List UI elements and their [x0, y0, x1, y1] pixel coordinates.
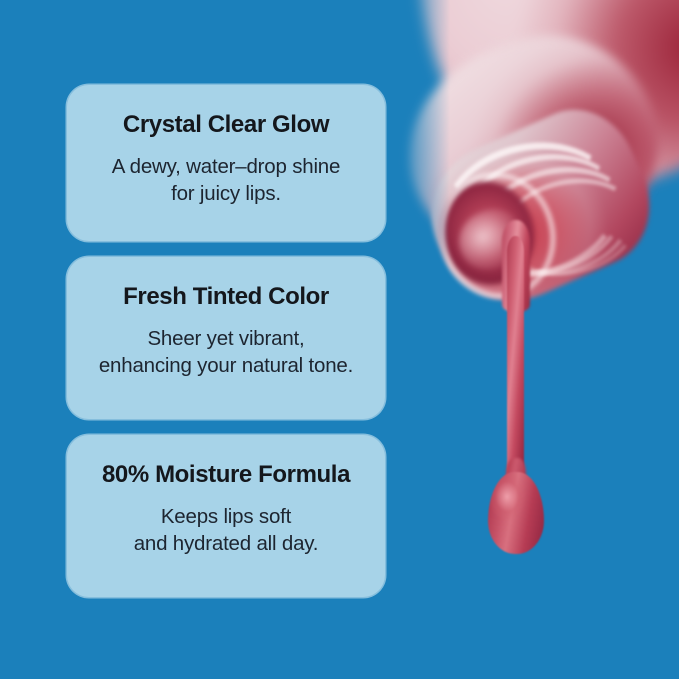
feature-card-description-line: and hydrated all day. — [134, 532, 319, 555]
product-feature-infographic: Crystal Clear Glow A dewy, water–drop sh… — [0, 0, 679, 679]
feature-card-description-line: Keeps lips soft — [161, 505, 291, 528]
feature-card-moisture-formula: 80% Moisture Formula Keeps lips soft and… — [67, 435, 385, 597]
feature-card-fresh-tinted-color: Fresh Tinted Color Sheer yet vibrant, en… — [67, 257, 385, 419]
feature-card-description: A dewy, water–drop shine for juicy lips. — [85, 153, 367, 208]
gloss-drip-bead — [488, 472, 544, 554]
feature-card-list: Crystal Clear Glow A dewy, water–drop sh… — [67, 85, 385, 597]
gloss-drip — [498, 236, 532, 536]
feature-card-title: Crystal Clear Glow — [85, 111, 367, 139]
feature-card-title: Fresh Tinted Color — [85, 283, 367, 311]
product-photo — [380, 0, 679, 679]
feature-card-description-line: enhancing your natural tone. — [99, 354, 353, 377]
feature-card-crystal-clear-glow: Crystal Clear Glow A dewy, water–drop sh… — [67, 85, 385, 241]
feature-card-description: Keeps lips soft and hydrated all day. — [85, 503, 367, 558]
feature-card-description-line: for juicy lips. — [171, 182, 281, 205]
feature-card-description-line: Sheer yet vibrant, — [147, 327, 304, 350]
feature-card-description: Sheer yet vibrant, enhancing your natura… — [85, 325, 367, 380]
feature-card-description-line: A dewy, water–drop shine — [112, 155, 340, 178]
feature-card-title: 80% Moisture Formula — [85, 461, 367, 489]
